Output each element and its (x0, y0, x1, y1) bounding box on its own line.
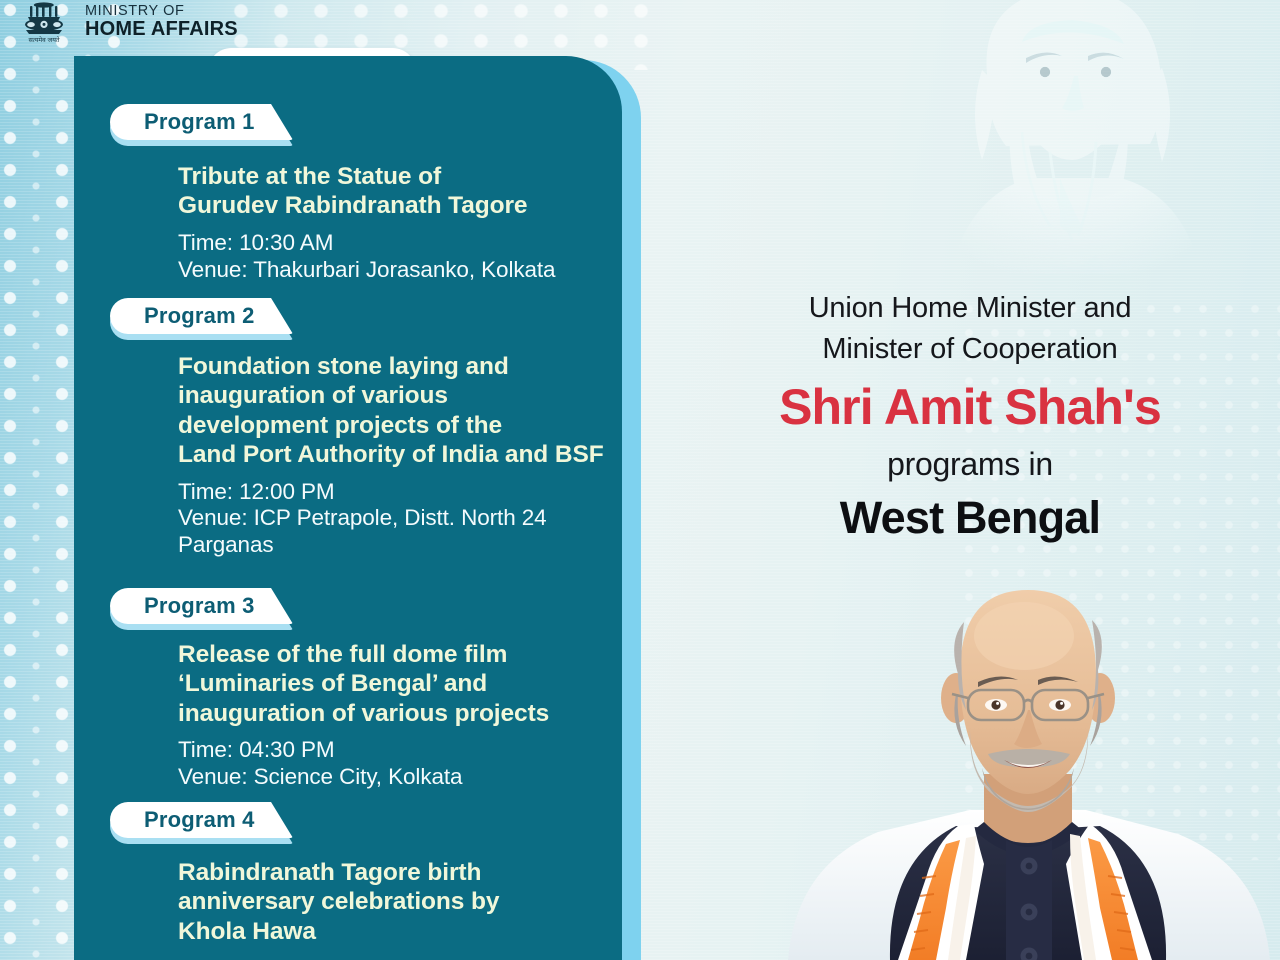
program-title-line: development projects of the (178, 411, 622, 440)
program-label-text: Program 4 (144, 807, 255, 833)
program-meta: Time: 04:30 PMVenue: Science City, Kolka… (178, 737, 622, 791)
program-title-line: anniversary celebrations by (178, 887, 622, 916)
india-state-emblem-icon: सत्यमेव जयते (18, 2, 76, 44)
program-venue-line: Parganas (178, 532, 622, 559)
program-title-line: Foundation stone laying and (178, 352, 622, 381)
state-name: West Bengal (660, 489, 1280, 548)
poster-canvas: सत्यमेव जयते MINISTRY OF HOME AFFAIRS 9t… (0, 0, 1280, 960)
program-time: Time: 10:30 AM (178, 230, 622, 257)
minister-name: Shri Amit Shah's (660, 375, 1280, 439)
program-title-line: Land Port Authority of India and BSF (178, 440, 622, 469)
program-title-line: Gurudev Rabindranath Tagore (178, 191, 622, 220)
program-title: Foundation stone laying andinauguration … (178, 352, 622, 470)
program-title: Rabindranath Tagore birthanniversary cel… (178, 858, 622, 946)
program-body-2: Foundation stone laying andinauguration … (178, 352, 622, 559)
program-title-line: inauguration of various (178, 381, 622, 410)
program-title-line: Rabindranath Tagore birth (178, 858, 622, 887)
program-label-text: Program 3 (144, 593, 255, 619)
program-label-1: Program 1 (110, 104, 293, 140)
emblem-motto: सत्यमेव जयते (28, 36, 59, 44)
program-label-text: Program 2 (144, 303, 255, 329)
ministry-logo: सत्यमेव जयते MINISTRY OF HOME AFFAIRS (18, 2, 238, 44)
program-title-line: Tribute at the Statue of (178, 162, 622, 191)
program-venue: Venue: ICP Petrapole, Distt. North 24 (178, 505, 622, 532)
schedule-list: Program 1Tribute at the Statue ofGurudev… (74, 56, 622, 960)
program-title: Tribute at the Statue ofGurudev Rabindra… (178, 162, 622, 221)
program-body-3: Release of the full dome film‘Luminaries… (178, 640, 622, 791)
tagore-watermark-portrait (910, 0, 1240, 274)
program-venue: Venue: Thakurbari Jorasanko, Kolkata (178, 257, 622, 284)
program-title: Release of the full dome film‘Luminaries… (178, 640, 622, 728)
schedule-panel: Program 1Tribute at the Statue ofGurudev… (74, 56, 622, 960)
program-venue: Venue: Science City, Kolkata (178, 764, 622, 791)
program-title-line: inauguration of various projects (178, 699, 622, 728)
program-body-4: Rabindranath Tagore birthanniversary cel… (178, 858, 622, 946)
program-title-line: ‘Luminaries of Bengal’ and (178, 669, 622, 698)
program-label-3: Program 3 (110, 588, 293, 624)
program-time: Time: 12:00 PM (178, 479, 622, 506)
program-title-line: Khola Hawa (178, 917, 622, 946)
headline-line-3: programs in (660, 442, 1280, 487)
ministry-line-2: HOME AFFAIRS (85, 19, 238, 40)
program-label-text: Program 1 (144, 109, 255, 135)
program-time: Time: 04:30 PM (178, 737, 622, 764)
headline-block: Union Home Minister and Minister of Coop… (660, 288, 1280, 548)
headline-line-1: Union Home Minister and (660, 288, 1280, 329)
program-body-1: Tribute at the Statue ofGurudev Rabindra… (178, 162, 622, 283)
program-meta: Time: 12:00 PMVenue: ICP Petrapole, Dist… (178, 479, 622, 559)
ministry-line-1: MINISTRY OF (85, 4, 238, 19)
headline-line-2: Minister of Cooperation (660, 329, 1280, 370)
program-label-2: Program 2 (110, 298, 293, 334)
program-title-line: Release of the full dome film (178, 640, 622, 669)
program-label-4: Program 4 (110, 802, 293, 838)
amit-shah-portrait (770, 578, 1280, 960)
program-meta: Time: 10:30 AMVenue: Thakurbari Jorasank… (178, 230, 622, 284)
